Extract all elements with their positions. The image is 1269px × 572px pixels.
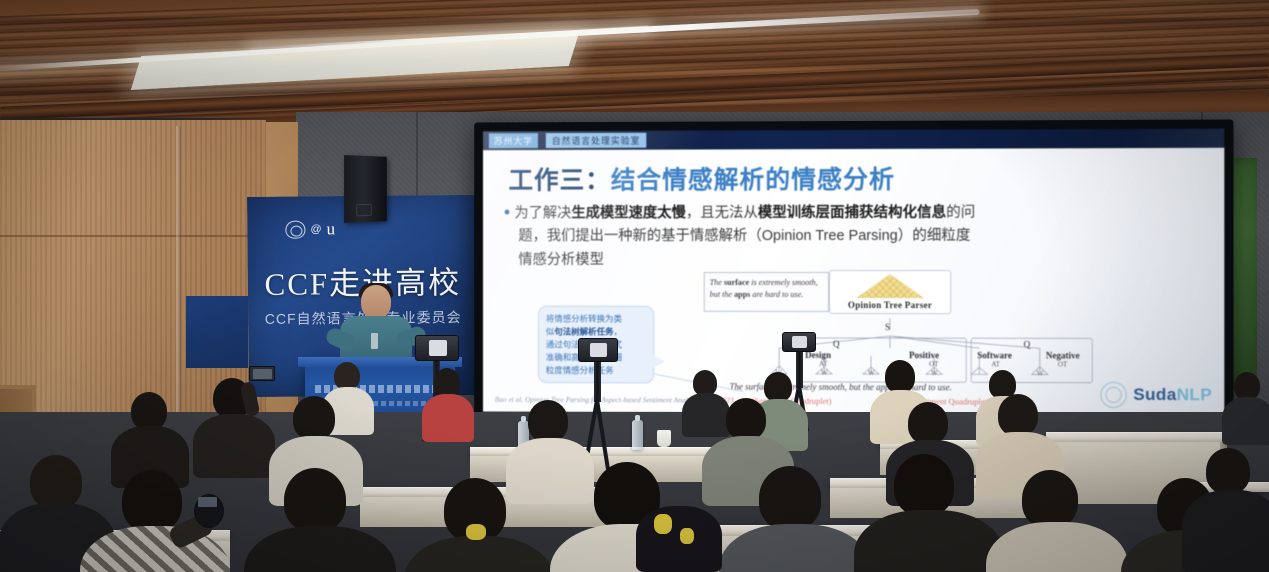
- banner-partial-left: [186, 296, 248, 368]
- lecture-hall-photo: @ u CCF走进高校 CCF自然语言处理专业委员会 苏州大学 自然语言处理实验…: [0, 0, 1269, 572]
- person-head: [1234, 372, 1260, 400]
- camera-lens-icon: [792, 336, 807, 348]
- ccf-mark-icon: [285, 221, 305, 239]
- bullet-seg-1: 为了解决: [514, 205, 571, 221]
- callout-l2b: 句法树解析任务: [554, 326, 613, 336]
- at-symbol-icon: @: [310, 223, 321, 235]
- person-head: [131, 392, 167, 430]
- water-bottle: [632, 420, 643, 450]
- university-seal-icon: [1101, 382, 1127, 408]
- tree-right-q-node: Q: [1024, 339, 1031, 349]
- tree-tag-at-left: AT: [819, 360, 828, 368]
- jacket-pattern: [654, 514, 672, 534]
- logo-suda: Suda: [1133, 385, 1176, 404]
- person-head: [1022, 470, 1078, 528]
- bullet-seg-5: 的问: [946, 205, 975, 221]
- person-head: [908, 402, 948, 444]
- paper-cup: [657, 430, 671, 447]
- wall-corner: [176, 126, 181, 426]
- bullet-seg-3: ，且无法从: [686, 205, 758, 221]
- person-head: [30, 455, 82, 509]
- person-head: [759, 466, 821, 530]
- tree-w-left-3: W: [868, 369, 875, 377]
- person-head: [122, 470, 182, 532]
- tree-opinion-negative: Negative: [1046, 350, 1080, 360]
- desk-row-far-right: [1046, 432, 1226, 442]
- person-head: [434, 368, 460, 397]
- person-shoulders: [193, 414, 275, 478]
- projection-screen-bezel: 苏州大学 自然语言处理实验室 工作三：结合情感解析的情感分析 为了解决生成模型速…: [474, 119, 1233, 423]
- tree-tag-ot-left: OT: [929, 360, 938, 368]
- person-head: [1206, 448, 1250, 494]
- person-shoulders: [506, 438, 594, 504]
- bullet-seg-4: 模型训练层面捕获结构化信息: [758, 205, 946, 221]
- slide-header-bar: 苏州大学 自然语言处理实验室: [483, 129, 1224, 151]
- person-head: [764, 372, 792, 402]
- callout-l1: 将情感分析转换为类: [546, 313, 647, 326]
- slide-header-lab: 自然语言处理实验室: [546, 133, 647, 148]
- presenter-head: [361, 285, 391, 319]
- person-shoulders: [1222, 397, 1269, 445]
- slide-title-prefix: 工作三：: [508, 166, 610, 195]
- tree-opinion-positive: Positive: [909, 350, 939, 360]
- person-head: [726, 398, 766, 440]
- slide-title-main: 结合情感解析的情感分析: [611, 165, 895, 195]
- u-letter-icon: u: [327, 219, 336, 239]
- presenter-badge: [371, 333, 378, 349]
- sent-p3: to use.: [928, 382, 952, 392]
- tree-root-node: S: [885, 322, 890, 332]
- tree-left-q-node: Q: [833, 339, 839, 349]
- tripod-post: [796, 352, 803, 388]
- camera-lens-icon: [590, 343, 607, 357]
- bullet-line-2: 题，我们提出一种新的基于情感解析（Opinion Tree Parsing）的细…: [505, 225, 1210, 249]
- tripod-post: [594, 362, 601, 402]
- logo-nlp: NLP: [1177, 385, 1213, 404]
- person-shoulders: [422, 394, 474, 442]
- tree-aspect-software: Software: [977, 350, 1012, 360]
- camera-lens-icon: [429, 340, 447, 356]
- tree-w-leaf-right: W: [1037, 369, 1044, 377]
- person-head: [894, 454, 954, 516]
- person-hair-clip-icon: [466, 524, 486, 540]
- bullet-dot-icon: [505, 210, 510, 215]
- smartphone-icon: [249, 366, 275, 381]
- camera-head-icon: [782, 332, 816, 352]
- bullet-seg-2: 生成模型速度太慢: [571, 205, 686, 221]
- person-head: [885, 360, 915, 393]
- callout-l2a: 似: [546, 326, 554, 336]
- slide-header-university: 苏州大学: [489, 133, 538, 148]
- bullet-line-3: 情感分析模型: [505, 249, 1210, 273]
- person-shoulders: [636, 506, 722, 572]
- tree-tag-ot-right: OT: [1058, 360, 1067, 368]
- sudanlp-logo: SudaNLP: [1101, 382, 1212, 409]
- person-head: [293, 396, 335, 440]
- person-head: [334, 362, 360, 390]
- person-head: [528, 400, 568, 442]
- slide-title: 工作三：结合情感解析的情感分析: [508, 160, 895, 197]
- person-head: [284, 468, 346, 532]
- slide-bullet-text: 为了解决生成模型速度太慢，且无法从模型训练层面捕获结构化信息的问 题，我们提出一…: [505, 201, 1210, 272]
- tree-w-left-2: W: [931, 369, 938, 377]
- tree-tag-at-right: AT: [991, 360, 1000, 368]
- person-head: [998, 394, 1038, 436]
- sudanlp-wordmark: SudaNLP: [1133, 385, 1212, 405]
- callout-l2c: ，: [614, 327, 622, 337]
- camera-head-icon: [415, 335, 459, 361]
- tree-w-left-1: W: [821, 369, 828, 377]
- pa-speaker-icon: [344, 155, 387, 223]
- wall-seam: [0, 235, 266, 237]
- jacket-pattern: [680, 528, 694, 544]
- person-shoulders: [1182, 490, 1269, 572]
- callout-l2: 似句法树解析任务，: [546, 325, 647, 338]
- camera-body-icon: [194, 494, 224, 528]
- camera-head-icon: [578, 338, 618, 362]
- person-shoulders: [682, 393, 730, 437]
